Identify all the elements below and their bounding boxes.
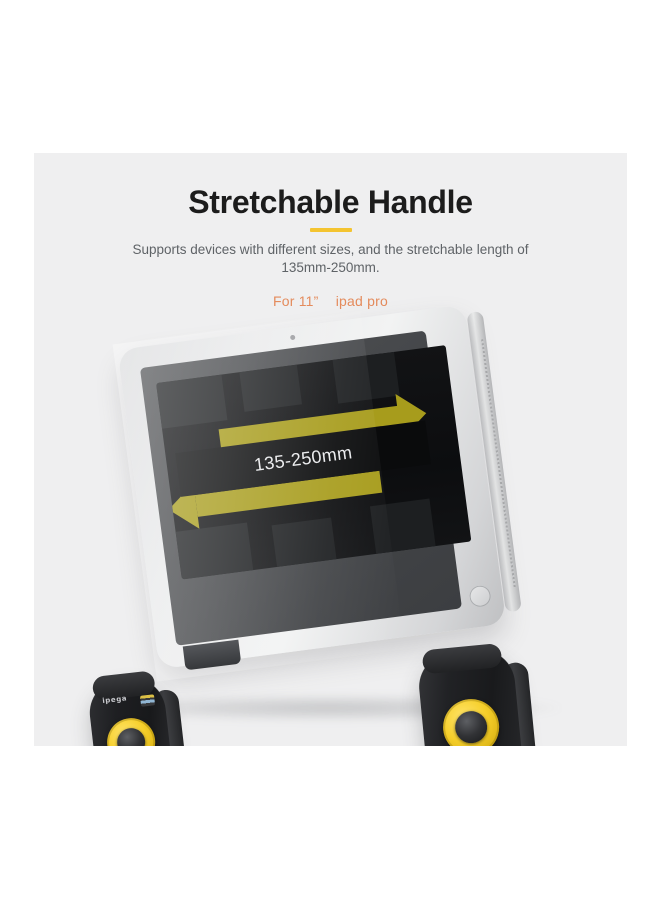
- tablet-body: 135-250mm: [117, 304, 506, 669]
- front-camera-icon: [290, 335, 296, 341]
- tablet-device: 135-250mm: [117, 303, 518, 687]
- right-analog-stick[interactable]: [441, 697, 502, 746]
- stretch-graphic-overlay: 135-250mm: [156, 345, 471, 579]
- measurement-label: 135-250mm: [253, 442, 354, 476]
- page-title: Stretchable Handle: [34, 153, 627, 221]
- title-underline-rule: [310, 228, 352, 232]
- overlay-block: [332, 352, 399, 404]
- home-button[interactable]: [468, 584, 492, 608]
- product-photo-stage: 135-250mm ipega: [34, 323, 627, 746]
- overlay-block: [272, 517, 337, 566]
- left-analog-stick[interactable]: [105, 716, 158, 746]
- status-led-indicator: [140, 694, 155, 707]
- right-controller-grip: Y X B A SELECT START: [416, 647, 532, 746]
- content-panel: Stretchable Handle Supports devices with…: [34, 153, 627, 746]
- subtitle-text: Supports devices with different sizes, a…: [131, 241, 531, 277]
- tagline-device-name: ipad pro: [336, 293, 388, 309]
- product-feature-image: Stretchable Handle Supports devices with…: [0, 0, 660, 900]
- right-stick-cap[interactable]: [454, 710, 489, 745]
- left-stick-cap[interactable]: [116, 727, 147, 746]
- tagline-device-size: For 11”: [273, 293, 319, 309]
- overlay-block: [156, 375, 227, 429]
- brand-logo: ipega: [102, 694, 128, 705]
- overlay-block: [176, 523, 254, 580]
- overlay-block: [370, 498, 436, 553]
- heading-block: Stretchable Handle Supports devices with…: [34, 153, 627, 309]
- compatibility-tagline: For 11” ipad pro: [34, 293, 627, 309]
- overlay-block: [239, 365, 302, 412]
